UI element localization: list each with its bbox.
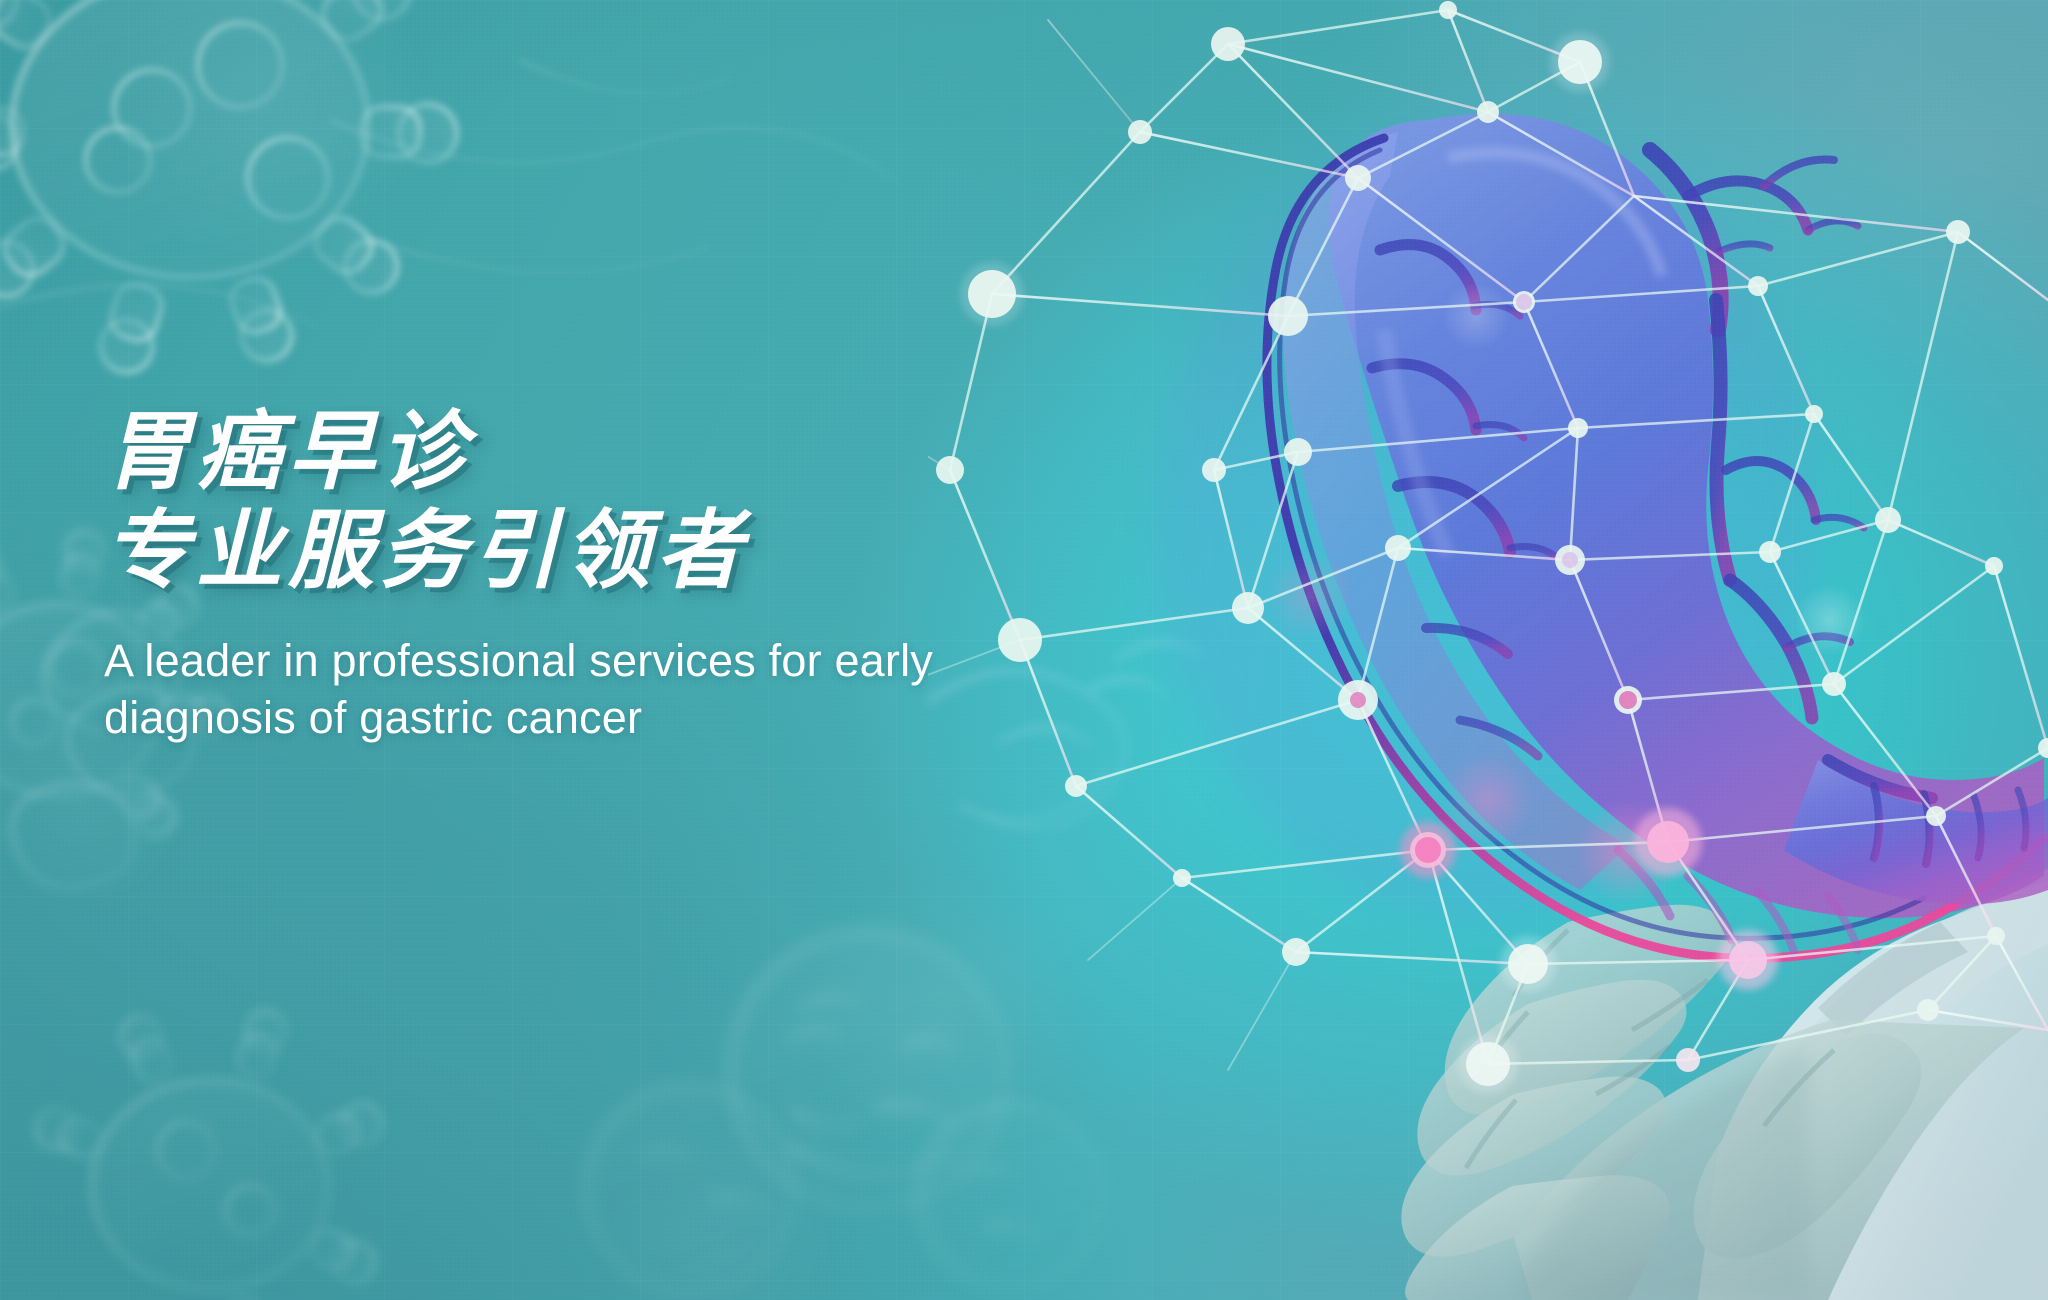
network-node-magenta <box>1619 691 1637 709</box>
network-node <box>1477 101 1499 123</box>
network-node <box>1946 220 1970 244</box>
network-node <box>1211 27 1245 61</box>
network-node-lilac <box>1516 294 1532 310</box>
subhead-line-2: diagnosis of gastric cancer <box>104 689 1124 746</box>
network-node <box>1748 276 1768 296</box>
network-node <box>1987 927 2005 945</box>
network-node-lilac <box>1562 552 1578 568</box>
network-node <box>1926 806 1946 826</box>
network-node-magenta <box>1350 692 1366 708</box>
network-node <box>1759 541 1781 563</box>
network-node <box>1875 507 1901 533</box>
network-node <box>1439 1 1457 19</box>
network-node <box>1822 672 1846 696</box>
network-node <box>1232 592 1264 624</box>
subhead-line-1: A leader in professional services for ea… <box>104 632 1124 689</box>
network-node <box>1385 535 1411 561</box>
stomach-organ <box>1158 113 2048 958</box>
network-node-pink <box>1676 1048 1700 1072</box>
network-node <box>1284 438 1312 466</box>
network-node <box>1568 418 1588 438</box>
headline-line-1: 胃癌早诊 <box>104 404 472 500</box>
network-node <box>2038 738 2048 758</box>
network-node <box>1345 165 1371 191</box>
network-node <box>1128 120 1152 144</box>
network-node <box>1202 458 1226 482</box>
network-node <box>1917 999 1939 1021</box>
network-node <box>1065 775 1087 797</box>
network-node <box>1268 296 1308 336</box>
headline-line-2: 专业服务引领者 <box>104 505 1154 598</box>
network-node <box>1173 869 1191 887</box>
network-node <box>1282 938 1310 966</box>
page-subtitle: A leader in professional services for ea… <box>104 632 1124 746</box>
network-node <box>1985 557 2003 575</box>
hero-banner: 胃癌早诊 专业服务引领者 A leader in professional se… <box>0 0 2048 1300</box>
page-title: 胃癌早诊 专业服务引领者 <box>104 406 1154 598</box>
hero-copy-block: 胃癌早诊 专业服务引领者 A leader in professional se… <box>104 406 1154 746</box>
network-node <box>1805 405 1823 423</box>
